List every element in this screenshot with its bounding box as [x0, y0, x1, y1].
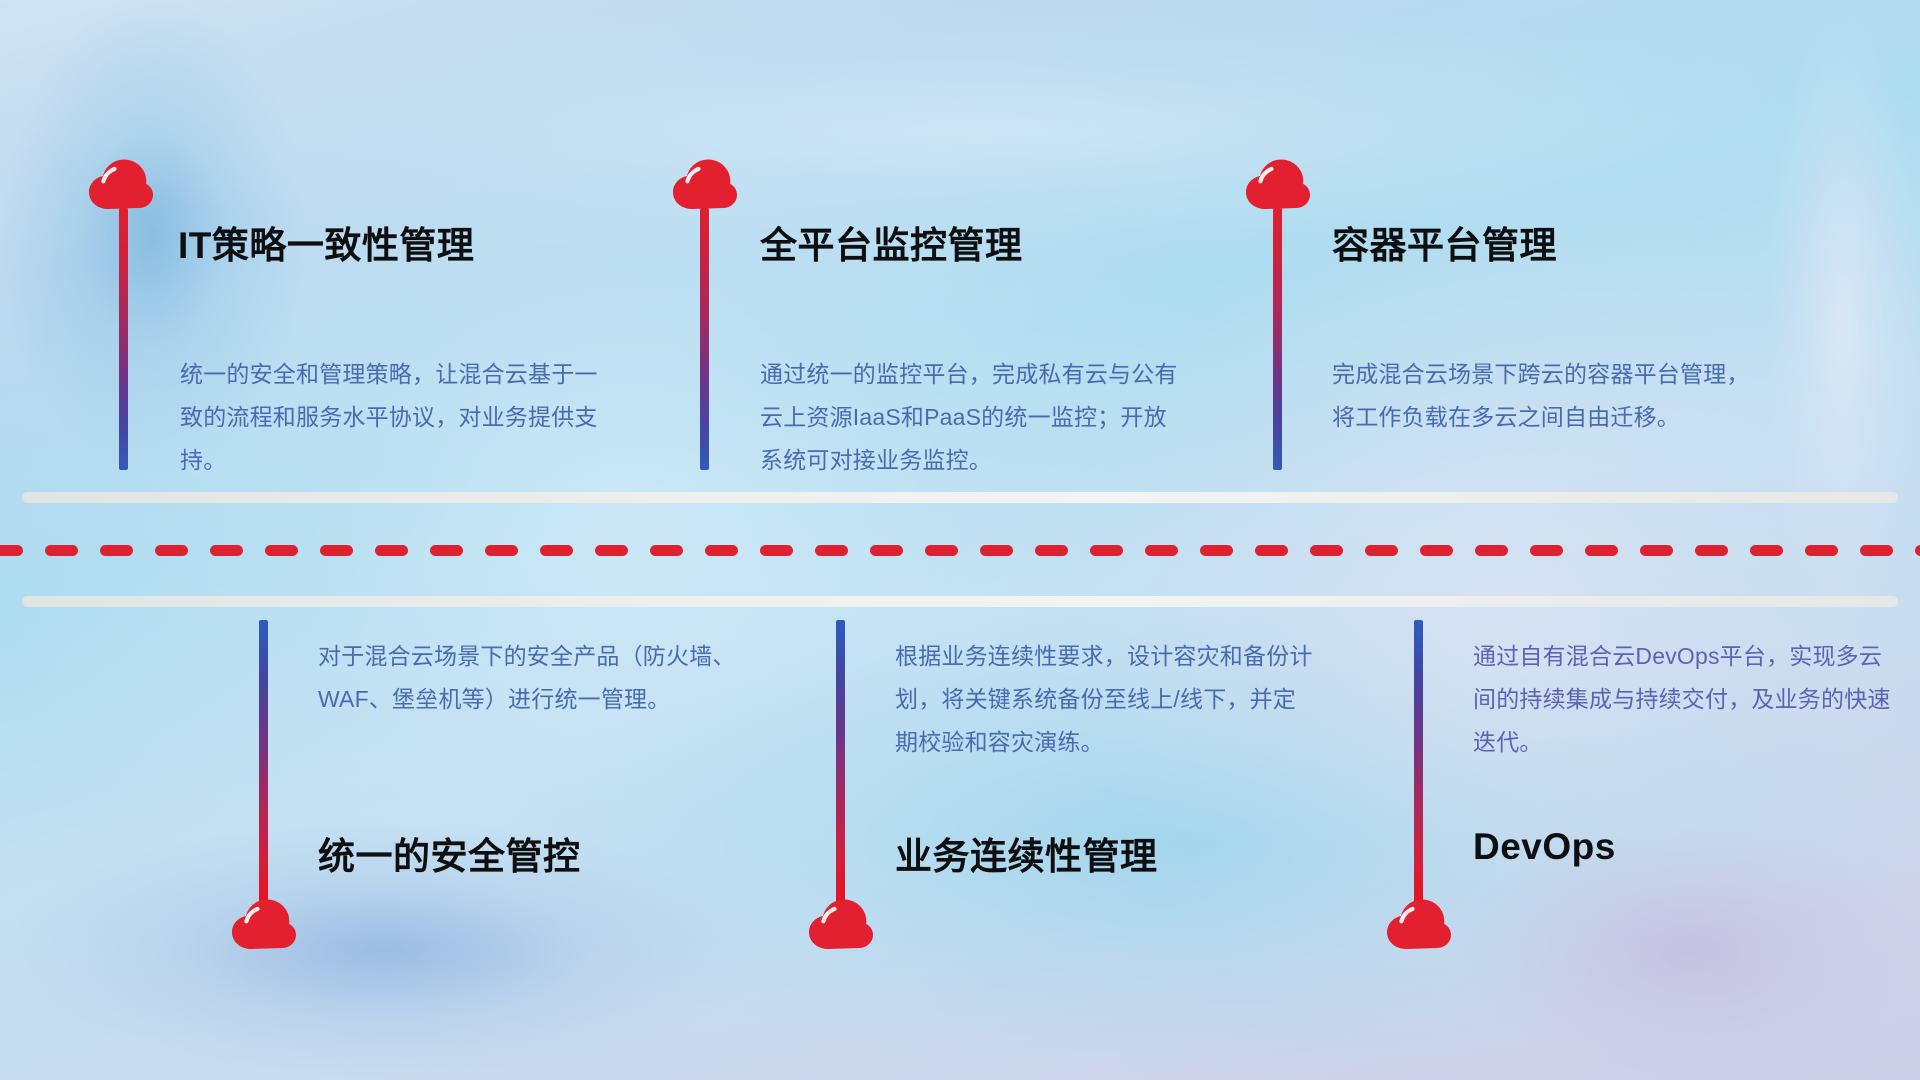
dash-segment: [1090, 545, 1123, 556]
dash-segment: [1695, 545, 1728, 556]
pin-stem: [259, 620, 268, 905]
dash-segment: [925, 545, 958, 556]
top-heading-2: 全平台监控管理: [760, 215, 1023, 269]
dash-segment: [650, 545, 683, 556]
bottom-heading-1: 统一的安全管控: [318, 826, 581, 880]
dash-segment: [1640, 545, 1673, 556]
dash-segment: [1145, 545, 1178, 556]
top-body-3: 完成混合云场景下跨云的容器平台管理，将工作负载在多云之间自由迁移。: [1332, 353, 1752, 439]
cloud-icon: [672, 158, 738, 210]
top-body-2: 通过统一的监控平台，完成私有云与公有云上资源IaaS和PaaS的统一监控；开放系…: [760, 353, 1180, 482]
dash-segment: [1310, 545, 1343, 556]
dash-segment: [1860, 545, 1893, 556]
dash-segment: [485, 545, 518, 556]
divider-bar-bottom: [22, 596, 1898, 607]
infographic-canvas: IT策略一致性管理 统一的安全和管理策略，让混合云基于一致的流程和服务水平协议，…: [0, 0, 1920, 1080]
dash-segment: [1420, 545, 1453, 556]
dash-segment: [870, 545, 903, 556]
dash-segment: [1530, 545, 1563, 556]
dash-segment: [1365, 545, 1398, 556]
dash-segment: [155, 545, 188, 556]
bottom-heading-2: 业务连续性管理: [895, 826, 1158, 880]
bottom-body-2: 根据业务连续性要求，设计容灾和备份计划，将关键系统备份至线上/线下，并定期校验和…: [895, 635, 1315, 764]
dash-segment: [1255, 545, 1288, 556]
top-heading-1: IT策略一致性管理: [178, 215, 474, 269]
dash-segment: [45, 545, 78, 556]
dash-segment: [1585, 545, 1618, 556]
dash-segment: [1750, 545, 1783, 556]
pin-stem: [1414, 620, 1423, 905]
dash-segment: [1805, 545, 1838, 556]
bottom-body-1: 对于混合云场景下的安全产品（防火墙、WAF、堡垒机等）进行统一管理。: [318, 635, 738, 721]
cloud-icon: [808, 898, 874, 950]
dash-segment: [1035, 545, 1068, 556]
dash-segment: [980, 545, 1013, 556]
dash-segment: [265, 545, 298, 556]
cloud-icon: [1386, 898, 1452, 950]
dash-segment: [1475, 545, 1508, 556]
bottom-heading-3: DevOps: [1473, 826, 1616, 868]
dashed-red-line: [0, 545, 1920, 556]
dash-segment: [0, 545, 23, 556]
cloud-icon: [88, 158, 154, 210]
top-heading-3: 容器平台管理: [1332, 215, 1557, 269]
dash-segment: [595, 545, 628, 556]
dash-segment: [430, 545, 463, 556]
divider-bar-top: [22, 492, 1898, 503]
dash-segment: [705, 545, 738, 556]
cloud-icon: [231, 898, 297, 950]
dash-segment: [1200, 545, 1233, 556]
dash-segment: [540, 545, 573, 556]
pin-stem: [836, 620, 845, 905]
pin-stem: [700, 208, 709, 470]
pin-stem: [119, 208, 128, 470]
pin-stem: [1273, 208, 1282, 470]
top-body-1: 统一的安全和管理策略，让混合云基于一致的流程和服务水平协议，对业务提供支持。: [180, 353, 600, 482]
dash-segment: [815, 545, 848, 556]
dash-segment: [375, 545, 408, 556]
cloud-icon: [1245, 158, 1311, 210]
dash-segment: [760, 545, 793, 556]
bottom-body-3: 通过自有混合云DevOps平台，实现多云间的持续集成与持续交付，及业务的快速迭代…: [1473, 635, 1893, 764]
dash-segment: [1915, 545, 1920, 556]
dash-segment: [100, 545, 133, 556]
dash-segment: [320, 545, 353, 556]
dash-segment: [210, 545, 243, 556]
